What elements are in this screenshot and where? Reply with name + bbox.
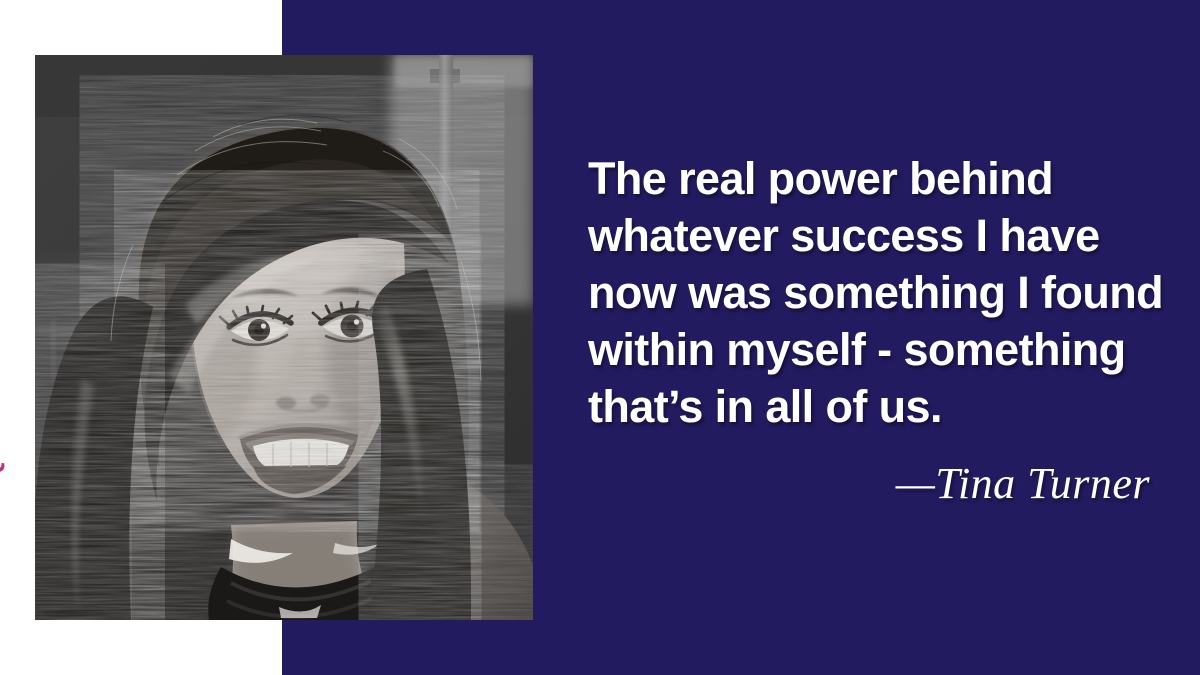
quote-line-5: that’s in all of us. [588,378,1150,435]
kicker-strip: LEADERSHIP QUOTE OF THE WEEK [0,0,34,675]
quote-line-4: within myself - something [588,321,1150,378]
quote-card: LEADERSHIP QUOTE OF THE WEEK The real po… [0,0,1200,675]
quote-line-2: whatever success I have [588,207,1150,264]
portrait-photo-image [35,55,533,620]
kicker-label: LEADERSHIP QUOTE OF THE WEEK [0,177,4,671]
quote-attribution: —Tina Turner [588,458,1150,510]
quote-line-3: now was something I found [588,264,1150,321]
quote-line-1: The real power behind [588,150,1150,207]
quote-text-block: The real power behind whatever success I… [588,150,1150,435]
portrait-photo [35,55,533,620]
